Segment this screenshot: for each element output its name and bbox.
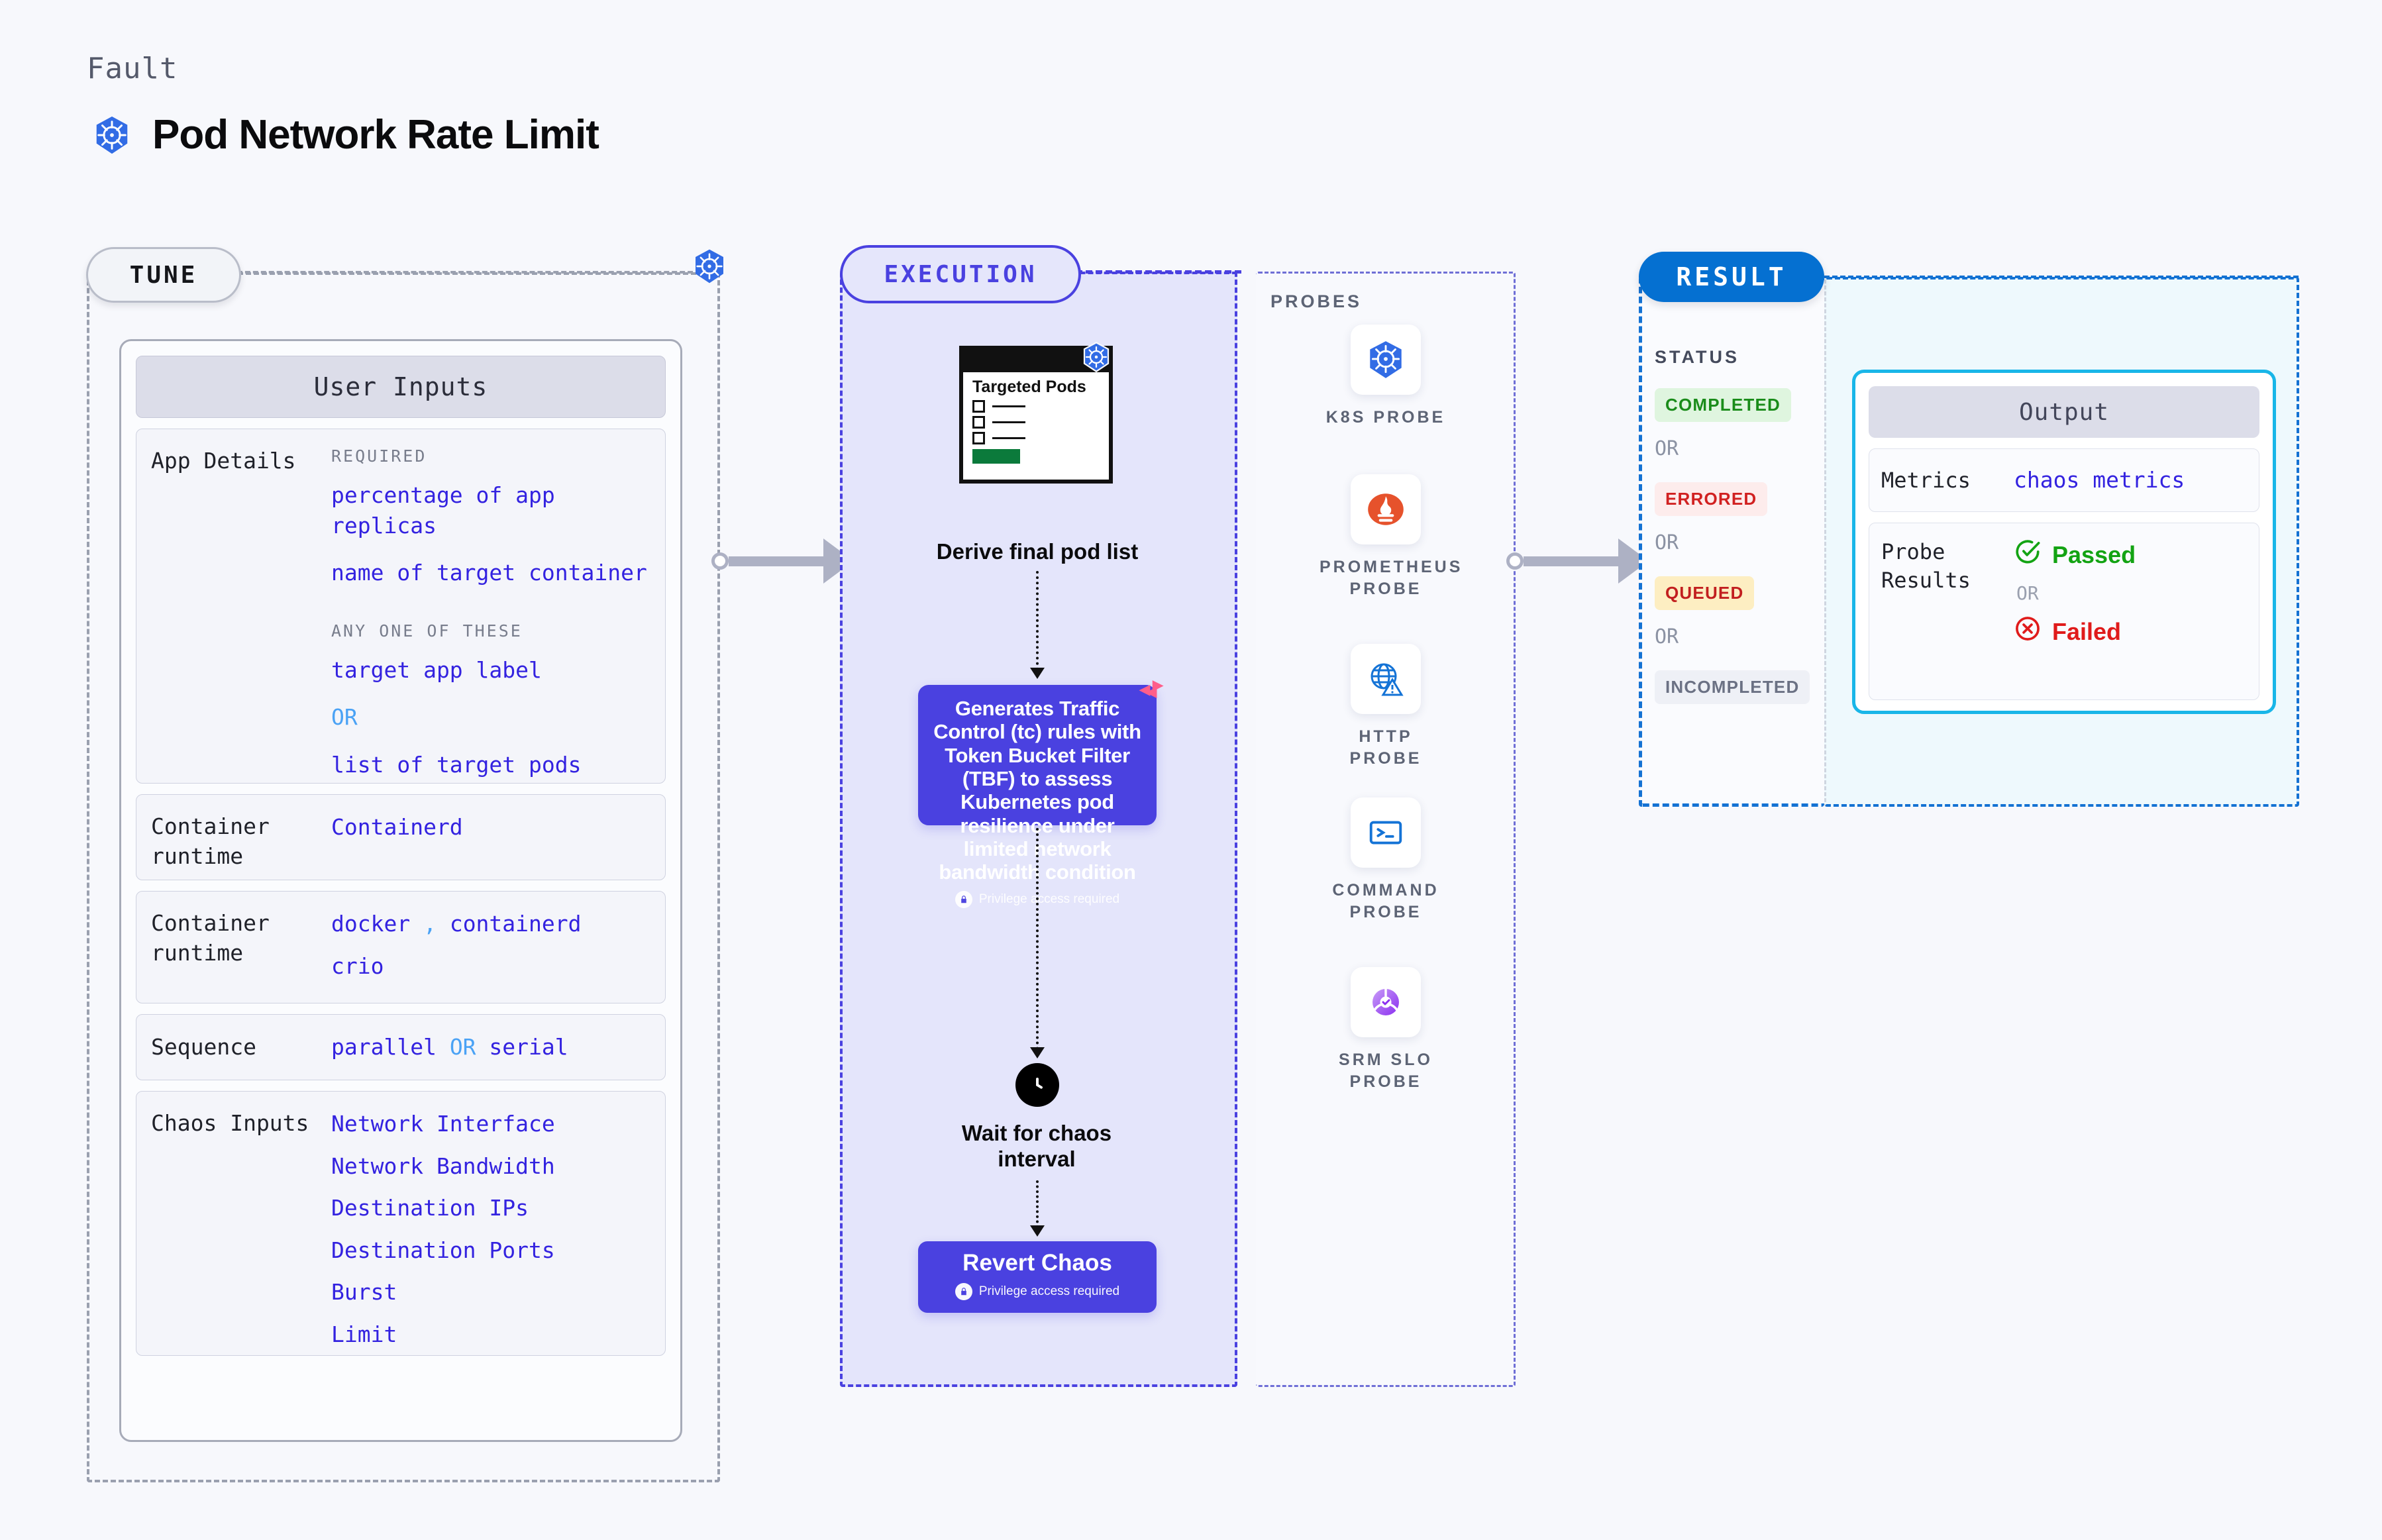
group-title-any-one: ANY ONE OF THESE [331,621,650,641]
tune-value: list of target pods [331,750,650,780]
derive-final-pod-list-label: Derive final pod list [898,539,1176,564]
tune-value: Destination IPs [331,1193,650,1223]
flow-line [1036,571,1039,670]
prometheus-icon [1351,474,1421,544]
page-title-row: Pod Network Rate Limit [91,111,599,158]
harness-logo-icon [1130,677,1166,716]
checkbox-icon [972,400,985,413]
tune-row-chaos-inputs: Chaos Inputs Network Interface Network B… [136,1091,666,1356]
tune-row-container-runtime: Container runtime Containerd [136,794,666,880]
tune-value: percentage of app replicas [331,480,650,540]
user-inputs-header: User Inputs [136,356,666,418]
tune-value: Limit [331,1319,650,1350]
kubernetes-icon [691,248,728,288]
probe-k8s[interactable]: K8S PROBE [1320,325,1452,429]
output-row-value: chaos metrics [2014,465,2247,495]
tune-row-label: Chaos Inputs [151,1109,331,1139]
privilege-note: Privilege access required [925,1283,1150,1300]
terminal-icon [1351,797,1421,868]
status-or-label: OR [1655,531,1679,554]
probe-result-or-label: OR [2016,582,2247,604]
connector-bar [729,556,825,566]
tune-row-label: Sequence [151,1033,331,1062]
status-badge-incompleted: INCOMPLETED [1655,670,1810,704]
status-title: STATUS [1655,347,1739,368]
tune-row-container-runtime-options: Container runtime docker , containerd cr… [136,891,666,1003]
connector-dot [711,552,729,570]
line-placeholder [992,405,1025,407]
list-item [972,416,1109,429]
tune-row-label: Container runtime [151,909,331,986]
tune-value: docker , containerd [331,909,650,939]
probe-result-failed: Failed [2014,615,2247,648]
status-badge-queued: QUEUED [1655,576,1754,610]
progress-bar [972,449,1020,464]
output-card: Output Metrics chaos metrics Probe Resul… [1852,370,2276,714]
status-badge-completed: COMPLETED [1655,388,1791,422]
probe-label: PROMETHEUS PROBE [1320,556,1452,599]
output-row-probe-results: Probe Results Passed OR Failed [1869,523,2259,700]
output-header: Output [1869,386,2259,438]
output-row-label: Metrics [1881,466,2014,495]
probe-result-failed-label: Failed [2052,618,2121,646]
tune-value: crio [331,951,650,982]
probe-label: HTTP PROBE [1320,726,1452,769]
tune-row-label: App Details [151,446,331,476]
list-item [972,400,1109,413]
tune-value: Network Interface [331,1109,650,1139]
list-item [972,432,1109,444]
flow-arrowhead [1030,1047,1045,1058]
tune-value: Containerd [331,812,650,843]
status-or-label: OR [1655,625,1679,648]
tune-row-app-details: App Details REQUIRED percentage of app r… [136,429,666,784]
tune-value: Destination Ports [331,1235,650,1266]
flow-line [1036,828,1039,1050]
probe-result-passed: Passed [2014,538,2247,572]
tune-row-label: Container runtime [151,812,331,862]
kubernetes-icon [1080,341,1112,376]
page-title: Pod Network Rate Limit [152,111,599,158]
output-row-label: Probe Results [1881,538,2014,595]
tune-value: target app label [331,655,650,686]
globe-warning-icon [1351,644,1421,714]
execution-section-pill[interactable]: EXECUTION [840,245,1081,303]
probe-http[interactable]: HTTP PROBE [1320,644,1452,769]
execution-header-connector [1076,270,1241,274]
user-inputs-card: User Inputs App Details REQUIRED percent… [119,339,682,1442]
probe-label: SRM SLO PROBE [1320,1049,1452,1092]
tune-value: Burst [331,1277,650,1308]
status-badge-errored: ERRORED [1655,482,1767,516]
tune-row-sequence: Sequence parallel OR serial [136,1014,666,1080]
probe-srm-slo[interactable]: SRM SLO PROBE [1320,967,1452,1092]
probe-label: K8S PROBE [1320,407,1452,429]
probes-title: PROBES [1270,291,1362,312]
group-title-required: REQUIRED [331,446,650,466]
probe-command[interactable]: COMMAND PROBE [1320,797,1452,923]
probe-prometheus[interactable]: PROMETHEUS PROBE [1320,474,1452,599]
fault-eyebrow-label: Fault [87,52,178,85]
targeted-pods-list [963,396,1109,444]
checkbox-icon [972,432,985,444]
check-circle-icon [2014,538,2042,572]
kubernetes-icon [1351,325,1421,395]
privilege-note-text: Privilege access required [979,1284,1119,1299]
tune-value: name of target container [331,558,650,588]
connector-execution-to-result [1506,537,1657,586]
probe-result-passed-label: Passed [2052,541,2136,569]
clock-icon [1015,1063,1059,1107]
tune-value: parallel OR serial [331,1032,650,1062]
kubernetes-icon [91,115,132,156]
output-row-metrics: Metrics chaos metrics [1869,448,2259,512]
lock-icon [955,1283,972,1300]
lock-icon [955,891,972,908]
status-or-label: OR [1655,437,1679,460]
flow-arrowhead [1030,668,1045,679]
x-circle-icon [2014,615,2042,648]
result-section-pill[interactable]: RESULT [1639,252,1824,302]
revert-chaos-box: Revert Chaos Privilege access required [918,1241,1157,1313]
line-placeholder [992,421,1025,423]
tune-section-pill[interactable]: TUNE [86,247,241,303]
connector-dot [1506,552,1524,570]
privilege-note-text: Privilege access required [979,892,1119,907]
line-placeholder [992,437,1025,439]
flow-line [1036,1180,1039,1228]
wait-for-chaos-interval-label: Wait for chaos interval [927,1121,1146,1172]
connector-bar [1524,556,1620,566]
result-header-connector [1824,276,2299,278]
tune-value: Network Bandwidth [331,1151,650,1182]
tune-value-or: OR [331,702,650,733]
flow-arrowhead [1030,1225,1045,1237]
srm-slo-icon [1351,967,1421,1037]
chaos-description-box: Generates Traffic Control (tc) rules wit… [918,685,1157,825]
revert-chaos-title: Revert Chaos [925,1250,1150,1276]
probe-label: COMMAND PROBE [1320,880,1452,923]
checkbox-icon [972,416,985,429]
